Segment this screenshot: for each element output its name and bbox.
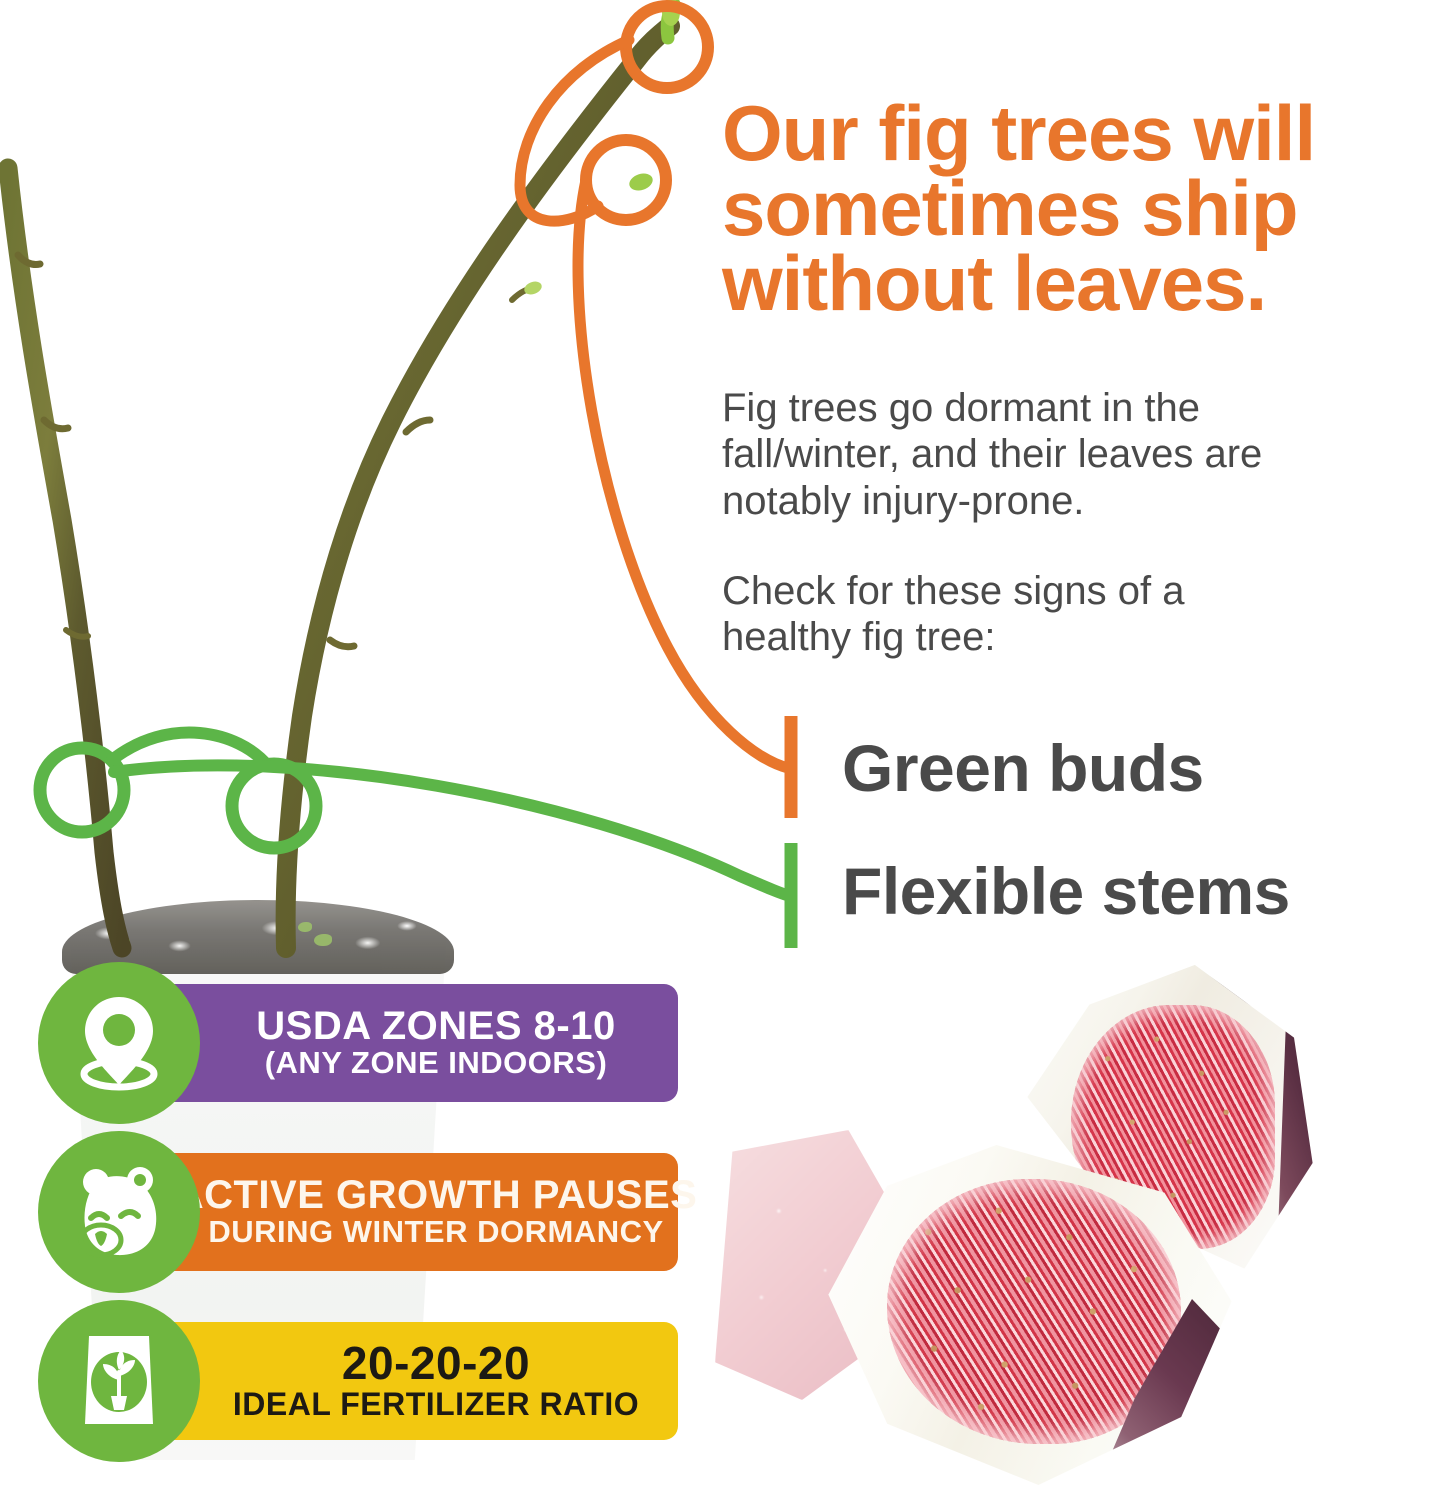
badge-pill-usda-zones: USDA ZONES 8-10 (ANY ZONE INDOORS): [146, 984, 678, 1102]
badge-pill-active-growth: ACTIVE GROWTH PAUSES DURING WINTER DORMA…: [146, 1153, 678, 1271]
headline: Our fig trees will sometimes ship withou…: [722, 96, 1434, 321]
callout-label-green-buds: Green buds: [842, 735, 1204, 801]
map-pin-icon: [38, 962, 200, 1124]
fertilizer-bag-icon: [38, 1300, 200, 1462]
badge-subtitle: (ANY ZONE INDOORS): [265, 1046, 608, 1080]
badge-fertilizer: 20-20-20 IDEAL FERTILIZER RATIO: [38, 1300, 678, 1462]
badge-title: 20-20-20: [342, 1340, 530, 1387]
badge-title: USDA ZONES 8-10: [256, 1006, 615, 1047]
badge-title: ACTIVE GROWTH PAUSES: [175, 1175, 698, 1216]
badge-pill-fertilizer: 20-20-20 IDEAL FERTILIZER RATIO: [146, 1322, 678, 1440]
badge-subtitle: DURING WINTER DORMANCY: [208, 1215, 663, 1249]
infographic-canvas: Our fig trees will sometimes ship withou…: [0, 0, 1445, 1489]
badge-active-growth: ACTIVE GROWTH PAUSES DURING WINTER DORMA…: [38, 1131, 678, 1293]
orange-circle-bud-top: [626, 6, 708, 88]
badge-usda-zones: USDA ZONES 8-10 (ANY ZONE INDOORS): [38, 962, 678, 1124]
body-paragraph-1: Fig trees go dormant in the fall/winter,…: [722, 385, 1382, 524]
badge-subtitle: IDEAL FERTILIZER RATIO: [233, 1387, 639, 1422]
callout-label-flexible-stems: Flexible stems: [842, 858, 1290, 924]
green-connector-line: [114, 765, 790, 896]
orange-connector-loop: [520, 40, 629, 221]
hibernating-bear-icon: [38, 1131, 200, 1293]
green-circle-stem-right: [232, 764, 316, 848]
body-paragraph-2: Check for these signs of a healthy fig t…: [722, 568, 1322, 661]
